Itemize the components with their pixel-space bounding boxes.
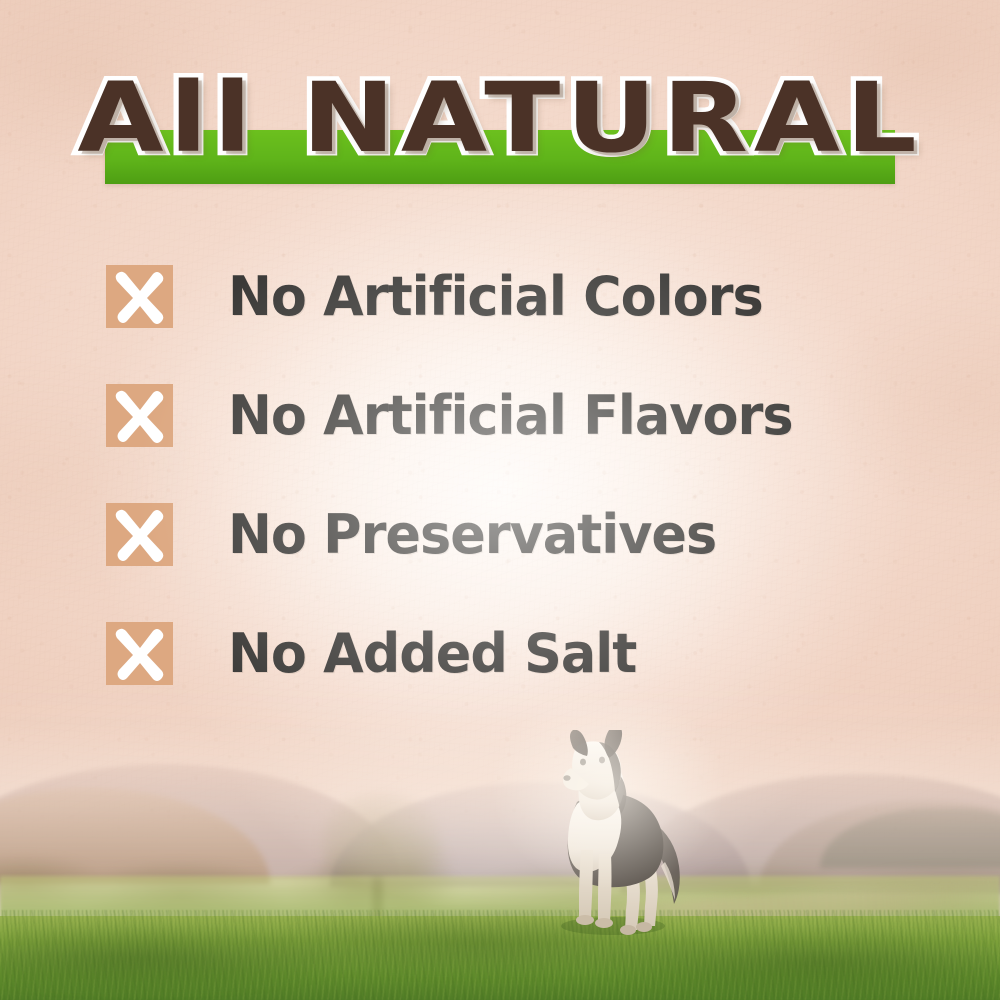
list-item-label: No Artificial Flavors <box>228 373 793 459</box>
x-mark-icon <box>106 622 173 685</box>
x-mark-icon <box>106 503 173 566</box>
list-item: No Added Salt <box>106 619 946 738</box>
list-item: No Preservatives <box>106 500 946 619</box>
x-mark-icon <box>106 384 173 447</box>
all-natural-poster: All NATURAL No Artificial Colors No Arti… <box>0 0 1000 1000</box>
grass-shadows <box>0 900 1000 1000</box>
feature-list: No Artificial Colors No Artificial Flavo… <box>106 262 946 738</box>
x-mark-icon <box>106 265 173 328</box>
list-item-label: No Added Salt <box>228 611 636 697</box>
list-item-label: No Preservatives <box>228 492 716 578</box>
list-item-label: No Artificial Colors <box>228 254 763 340</box>
list-item: No Artificial Colors <box>106 262 946 381</box>
list-item: No Artificial Flavors <box>106 381 946 500</box>
page-title: All NATURAL <box>0 70 1000 166</box>
headline-area: All NATURAL <box>0 70 1000 190</box>
border-collie-dog <box>525 730 705 940</box>
